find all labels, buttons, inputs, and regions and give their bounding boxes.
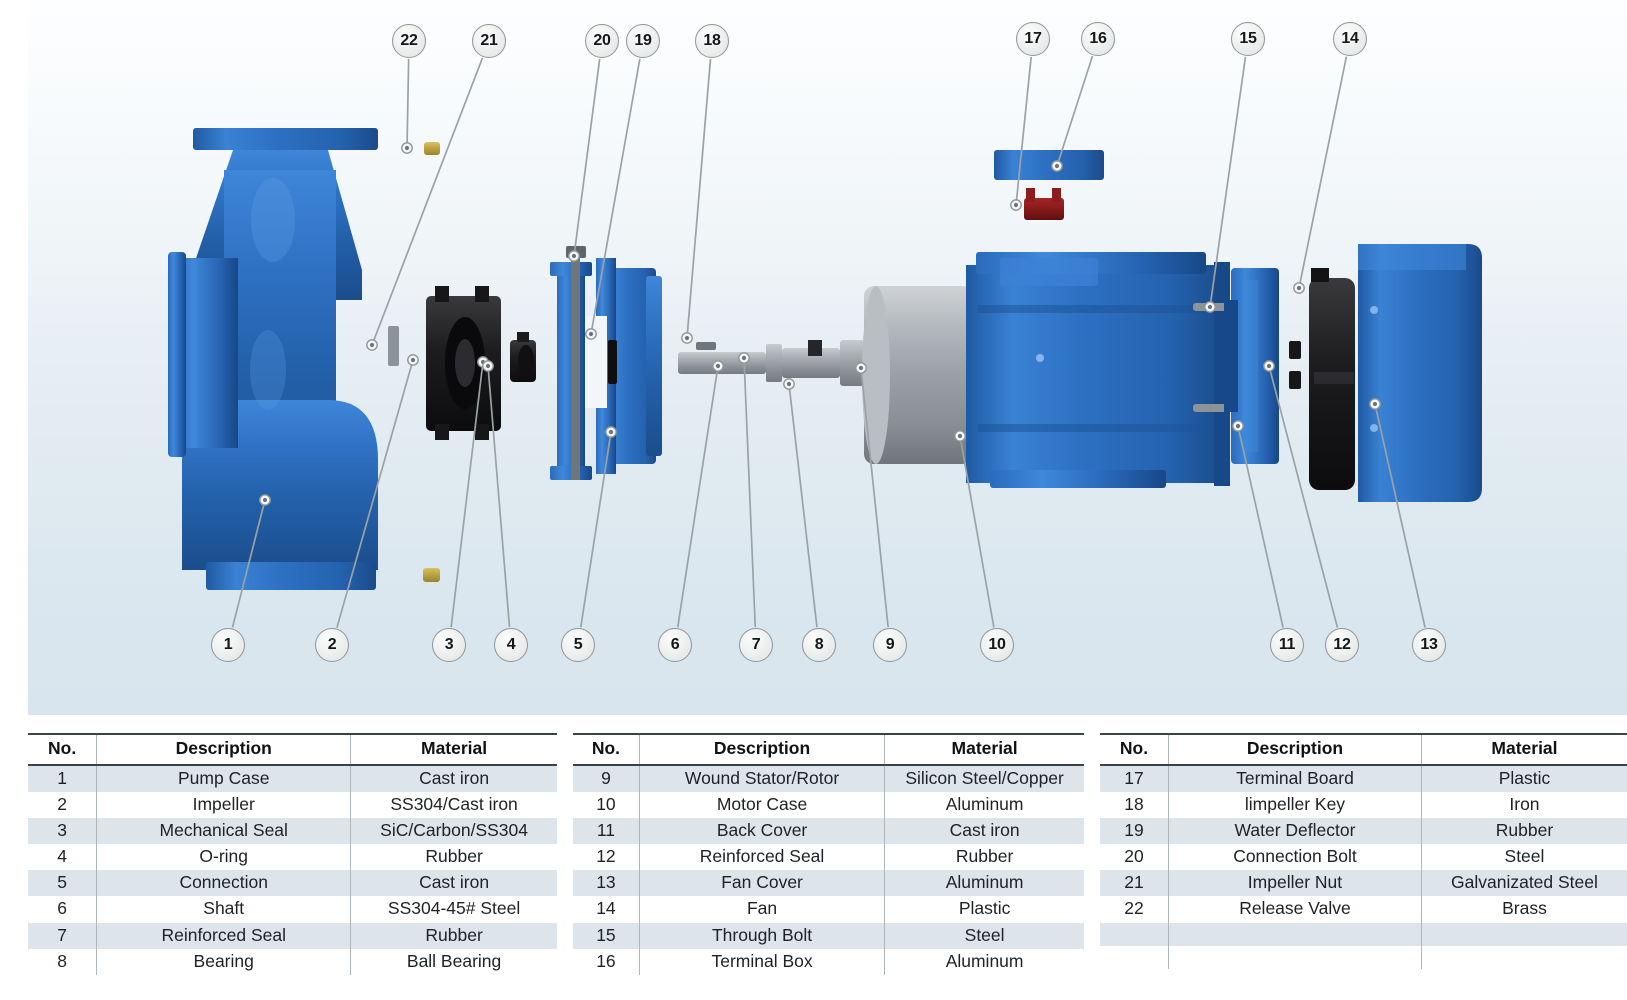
table-row: 17Terminal BoardPlastic	[1100, 765, 1627, 792]
callout-balloon-22[interactable]: 22	[392, 24, 426, 58]
leader-endpoint-9	[856, 363, 866, 373]
table-row: 1Pump CaseCast iron	[28, 765, 557, 792]
parts-table-2-body: 9Wound Stator/RotorSilicon Steel/Copper1…	[573, 765, 1084, 975]
cell-description: Terminal Board	[1169, 765, 1422, 792]
leader-endpoint-1	[260, 495, 270, 505]
cell-description: Pump Case	[97, 765, 351, 792]
cell-description	[1169, 923, 1422, 946]
callout-number: 9	[886, 636, 895, 654]
cell-material: Rubber	[351, 923, 557, 949]
callout-number: 4	[507, 636, 516, 654]
table-row: 18limpeller KeyIron	[1100, 792, 1627, 818]
leader-endpoint-13	[1370, 399, 1380, 409]
table-row: 21Impeller NutGalvanizated Steel	[1100, 870, 1627, 896]
header-description: Description	[97, 734, 351, 765]
left-white-margin	[0, 0, 28, 715]
leader-endpoint-18	[682, 333, 692, 343]
cell-material: Plastic	[885, 896, 1084, 922]
header-material: Material	[1421, 734, 1627, 765]
leader-line-2	[337, 360, 413, 628]
leader-line-1	[232, 500, 265, 628]
cell-description: Wound Stator/Rotor	[639, 765, 884, 792]
header-material: Material	[351, 734, 557, 765]
callout-balloon-14[interactable]: 14	[1333, 22, 1367, 56]
callout-number: 6	[671, 636, 680, 654]
cell-material: Aluminum	[885, 870, 1084, 896]
callout-balloon-5[interactable]: 5	[561, 628, 595, 662]
leader-endpoint-17	[1011, 200, 1021, 210]
table-row: 19Water DeflectorRubber	[1100, 818, 1627, 844]
callout-balloon-3[interactable]: 3	[432, 628, 466, 662]
callout-number: 8	[815, 636, 824, 654]
parts-table-3-body: 17Terminal BoardPlastic18limpeller KeyIr…	[1100, 765, 1627, 969]
leader-endpoint-core-1	[263, 498, 267, 502]
header-no: No.	[573, 734, 639, 765]
leader-line-20	[574, 59, 600, 256]
impeller-graphic	[426, 286, 501, 440]
cell-description: Impeller Nut	[1169, 870, 1422, 896]
cell-description: Connection	[97, 870, 351, 896]
leader-endpoint-core-11	[1236, 424, 1240, 428]
callout-number: 17	[1024, 30, 1041, 48]
leader-endpoint-core-16	[1055, 164, 1059, 168]
callout-number: 1	[224, 636, 233, 654]
leader-line-6	[678, 366, 718, 627]
table-row: 9Wound Stator/RotorSilicon Steel/Copper	[573, 765, 1084, 792]
leader-endpoint-core-18	[685, 336, 689, 340]
parts-table-3-wrap: No. Description Material 17Terminal Boar…	[1100, 733, 1627, 1000]
cell-description: Shaft	[97, 896, 351, 922]
table-row: 13Fan CoverAluminum	[573, 870, 1084, 896]
header-no: No.	[28, 734, 97, 765]
fan-cover-graphic	[1358, 244, 1482, 502]
reinforced-seal-graphic	[1289, 341, 1301, 389]
cell-material: Cast iron	[885, 818, 1084, 844]
leader-endpoint-core-15	[1208, 305, 1212, 309]
leader-endpoints	[260, 143, 1380, 505]
cell-material: Cast iron	[351, 765, 557, 792]
table-row: 11Back CoverCast iron	[573, 818, 1084, 844]
callout-balloon-13[interactable]: 13	[1412, 628, 1446, 662]
leader-line-9	[861, 368, 888, 627]
cell-description: O-ring	[97, 844, 351, 870]
parts-table-1-body: 1Pump CaseCast iron2ImpellerSS304/Cast i…	[28, 765, 557, 975]
leader-endpoint-4	[483, 361, 493, 371]
callout-balloon-8[interactable]: 8	[802, 628, 836, 662]
leader-lines	[232, 56, 1425, 628]
cell-description: Fan	[639, 896, 884, 922]
leader-endpoint-20	[569, 251, 579, 261]
through-bolt-graphic	[1193, 303, 1255, 412]
leader-line-21	[372, 58, 483, 345]
leader-endpoint-5	[606, 427, 616, 437]
table-row: 3Mechanical SealSiC/Carbon/SS304	[28, 818, 557, 844]
cell-material: Aluminum	[885, 949, 1084, 975]
table-header-row: No. Description Material	[28, 734, 557, 765]
callout-number: 13	[1420, 636, 1437, 654]
cell-no: 19	[1100, 818, 1169, 844]
cell-material: SiC/Carbon/SS304	[351, 818, 557, 844]
callout-number: 7	[752, 636, 761, 654]
page-root: 22212019181716151412345678910111213 No. …	[0, 0, 1627, 1000]
leader-line-10	[960, 436, 994, 627]
callout-number: 14	[1341, 30, 1358, 48]
table-row	[1100, 923, 1627, 946]
table-row: 22Release ValveBrass	[1100, 896, 1627, 922]
cell-no: 4	[28, 844, 97, 870]
header-description: Description	[1169, 734, 1422, 765]
cell-no: 11	[573, 818, 639, 844]
leader-line-13	[1375, 404, 1425, 627]
table-header-row: No. Description Material	[573, 734, 1084, 765]
parts-table-3: No. Description Material 17Terminal Boar…	[1100, 733, 1627, 969]
leader-endpoint-core-9	[859, 366, 863, 370]
cell-description: Mechanical Seal	[97, 818, 351, 844]
leader-line-18	[687, 59, 710, 338]
leader-line-17	[1016, 57, 1031, 205]
back-cover-graphic	[1224, 268, 1279, 464]
cell-material: Silicon Steel/Copper	[885, 765, 1084, 792]
cell-material: Rubber	[351, 844, 557, 870]
table-row: 14FanPlastic	[573, 896, 1084, 922]
callout-balloon-9[interactable]: 9	[873, 628, 907, 662]
leader-endpoint-21	[367, 340, 377, 350]
cell-material: Iron	[1421, 792, 1627, 818]
parts-table-1-wrap: No. Description Material 1Pump CaseCast …	[28, 733, 557, 1000]
leader-endpoint-16	[1052, 161, 1062, 171]
callout-balloon-4[interactable]: 4	[494, 628, 528, 662]
leader-endpoint-6	[713, 361, 723, 371]
leader-endpoint-3	[478, 357, 488, 367]
callout-number: 19	[634, 32, 651, 50]
cell-no: 17	[1100, 765, 1169, 792]
cell-no: 18	[1100, 792, 1169, 818]
cell-material: Steel	[1421, 844, 1627, 870]
leader-line-14	[1299, 57, 1346, 288]
callout-balloon-11[interactable]: 11	[1270, 628, 1304, 662]
diagram-illustration	[28, 0, 1627, 715]
table-row: 10Motor CaseAluminum	[573, 792, 1084, 818]
cell-no: 16	[573, 949, 639, 975]
cell-no: 15	[573, 923, 639, 949]
leader-endpoint-core-19	[589, 332, 593, 336]
leader-endpoint-core-17	[1014, 203, 1018, 207]
leader-line-3	[451, 362, 483, 627]
leader-endpoint-10	[955, 431, 965, 441]
callout-number: 16	[1089, 30, 1106, 48]
leader-line-11	[1238, 426, 1283, 627]
cell-description: Water Deflector	[1169, 818, 1422, 844]
callout-balloon-2[interactable]: 2	[315, 628, 349, 662]
cell-material	[1421, 946, 1627, 969]
cell-material: SS304/Cast iron	[351, 792, 557, 818]
callout-balloon-12[interactable]: 12	[1325, 628, 1359, 662]
cell-no: 13	[573, 870, 639, 896]
leader-endpoint-15	[1205, 302, 1215, 312]
cell-no: 20	[1100, 844, 1169, 870]
cell-no: 22	[1100, 896, 1169, 922]
callout-number: 12	[1333, 636, 1350, 654]
leader-endpoint-2	[408, 355, 418, 365]
cell-no: 3	[28, 818, 97, 844]
connection-graphic	[550, 246, 662, 480]
cell-no: 1	[28, 765, 97, 792]
cell-description: limpeller Key	[1169, 792, 1422, 818]
cell-no: 21	[1100, 870, 1169, 896]
leader-endpoint-core-2	[411, 358, 415, 362]
callout-balloon-6[interactable]: 6	[658, 628, 692, 662]
leader-endpoint-core-14	[1297, 286, 1301, 290]
cell-description: Bearing	[97, 949, 351, 975]
cell-no: 10	[573, 792, 639, 818]
cell-material: SS304-45# Steel	[351, 896, 557, 922]
cell-description: Fan Cover	[639, 870, 884, 896]
callout-balloon-18[interactable]: 18	[695, 24, 729, 58]
terminal-box-graphic	[994, 150, 1104, 180]
cell-no: 2	[28, 792, 97, 818]
leader-endpoint-core-3	[481, 360, 485, 364]
callout-number: 10	[988, 636, 1005, 654]
table-row: 5ConnectionCast iron	[28, 870, 557, 896]
cell-description: Connection Bolt	[1169, 844, 1422, 870]
table-row: 15Through BoltSteel	[573, 923, 1084, 949]
leader-line-4	[488, 366, 510, 627]
leader-line-22	[407, 59, 409, 148]
table-row: 4O-ringRubber	[28, 844, 557, 870]
cell-no: 14	[573, 896, 639, 922]
cell-no	[1100, 923, 1169, 946]
leader-endpoint-core-4	[486, 364, 490, 368]
table-row	[1100, 946, 1627, 969]
leader-line-19	[591, 59, 640, 334]
leader-line-5	[581, 432, 611, 627]
parts-table-1: No. Description Material 1Pump CaseCast …	[28, 733, 557, 975]
leader-endpoint-core-7	[742, 356, 746, 360]
cell-description: Release Valve	[1169, 896, 1422, 922]
leader-endpoint-core-21	[370, 343, 374, 347]
fan-graphic	[1309, 268, 1355, 490]
pump-case-graphic	[168, 128, 378, 590]
callout-number: 2	[328, 636, 337, 654]
leader-line-12	[1269, 366, 1337, 628]
cell-description: Back Cover	[639, 818, 884, 844]
table-row: 7Reinforced SealRubber	[28, 923, 557, 949]
callout-number: 11	[1279, 636, 1295, 654]
leader-endpoint-12	[1264, 361, 1274, 371]
leader-endpoint-core-8	[787, 382, 791, 386]
header-material: Material	[885, 734, 1084, 765]
callout-balloon-17[interactable]: 17	[1016, 22, 1050, 56]
cell-description: Reinforced Seal	[639, 844, 884, 870]
callout-number: 3	[445, 636, 454, 654]
table-row: 8BearingBall Bearing	[28, 949, 557, 975]
exploded-view-diagram: 22212019181716151412345678910111213	[28, 0, 1627, 715]
cell-no: 5	[28, 870, 97, 896]
parts-table-2: No. Description Material 9Wound Stator/R…	[573, 733, 1084, 975]
release-valve-graphic	[423, 142, 440, 582]
header-description: Description	[639, 734, 884, 765]
cell-description: Reinforced Seal	[97, 923, 351, 949]
cell-material: Plastic	[1421, 765, 1627, 792]
motor-case-graphic	[966, 252, 1230, 488]
cell-no: 6	[28, 896, 97, 922]
leader-endpoint-core-5	[609, 430, 613, 434]
cell-material: Galvanizated Steel	[1421, 870, 1627, 896]
callout-balloon-20[interactable]: 20	[585, 24, 619, 58]
leader-line-7	[744, 358, 755, 627]
callout-number: 15	[1239, 30, 1256, 48]
leader-endpoint-7	[739, 353, 749, 363]
cell-material: Brass	[1421, 896, 1627, 922]
callout-number: 22	[400, 32, 417, 50]
callout-balloon-7[interactable]: 7	[739, 628, 773, 662]
callout-balloon-19[interactable]: 19	[626, 24, 660, 58]
table-row: 16Terminal BoxAluminum	[573, 949, 1084, 975]
leader-endpoint-core-20	[572, 254, 576, 258]
cell-description: Impeller	[97, 792, 351, 818]
cell-no: 9	[573, 765, 639, 792]
parts-tables: No. Description Material 1Pump CaseCast …	[0, 715, 1627, 1000]
cell-description: Through Bolt	[639, 923, 884, 949]
callout-balloon-15[interactable]: 15	[1231, 22, 1265, 56]
table-row: 12Reinforced SealRubber	[573, 844, 1084, 870]
cell-no: 7	[28, 923, 97, 949]
callout-balloon-10[interactable]: 10	[980, 628, 1014, 662]
cell-material: Rubber	[885, 844, 1084, 870]
leader-endpoint-11	[1233, 421, 1243, 431]
header-no: No.	[1100, 734, 1169, 765]
callout-balloon-1[interactable]: 1	[211, 628, 245, 662]
callout-number: 18	[703, 32, 720, 50]
leader-endpoint-core-22	[405, 146, 409, 150]
cell-material: Rubber	[1421, 818, 1627, 844]
cell-description	[1169, 946, 1422, 969]
leader-endpoint-8	[784, 379, 794, 389]
cell-description: Motor Case	[639, 792, 884, 818]
leader-endpoint-19	[586, 329, 596, 339]
leader-line-16	[1057, 56, 1092, 166]
wound-stator-rotor-graphic	[862, 286, 972, 464]
cell-material: Aluminum	[885, 792, 1084, 818]
cell-description: Terminal Box	[639, 949, 884, 975]
table-header-row: No. Description Material	[1100, 734, 1627, 765]
mechanical-seal-graphic	[388, 326, 536, 382]
callout-number: 20	[593, 32, 610, 50]
callout-balloon-21[interactable]: 21	[472, 24, 506, 58]
leader-endpoint-14	[1294, 283, 1304, 293]
parts-table-2-wrap: No. Description Material 9Wound Stator/R…	[573, 733, 1084, 1000]
terminal-board-graphic	[1024, 188, 1064, 220]
cell-material	[1421, 923, 1627, 946]
table-row: 2ImpellerSS304/Cast iron	[28, 792, 557, 818]
callout-balloon-16[interactable]: 16	[1081, 22, 1115, 56]
leader-endpoint-core-12	[1267, 364, 1271, 368]
cell-material: Steel	[885, 923, 1084, 949]
leader-line-8	[789, 384, 817, 627]
leader-endpoint-core-6	[716, 364, 720, 368]
callout-number: 21	[480, 32, 497, 50]
callout-number: 5	[574, 636, 583, 654]
cell-material: Cast iron	[351, 870, 557, 896]
cell-no: 12	[573, 844, 639, 870]
leader-endpoint-22	[402, 143, 412, 153]
leader-endpoint-core-10	[958, 434, 962, 438]
shaft-graphic	[678, 340, 864, 386]
cell-material: Ball Bearing	[351, 949, 557, 975]
leader-endpoint-core-13	[1373, 402, 1377, 406]
table-row: 6ShaftSS304-45# Steel	[28, 896, 557, 922]
table-row: 20Connection BoltSteel	[1100, 844, 1627, 870]
cell-no	[1100, 946, 1169, 969]
leader-line-15	[1210, 57, 1245, 307]
cell-no: 8	[28, 949, 97, 975]
